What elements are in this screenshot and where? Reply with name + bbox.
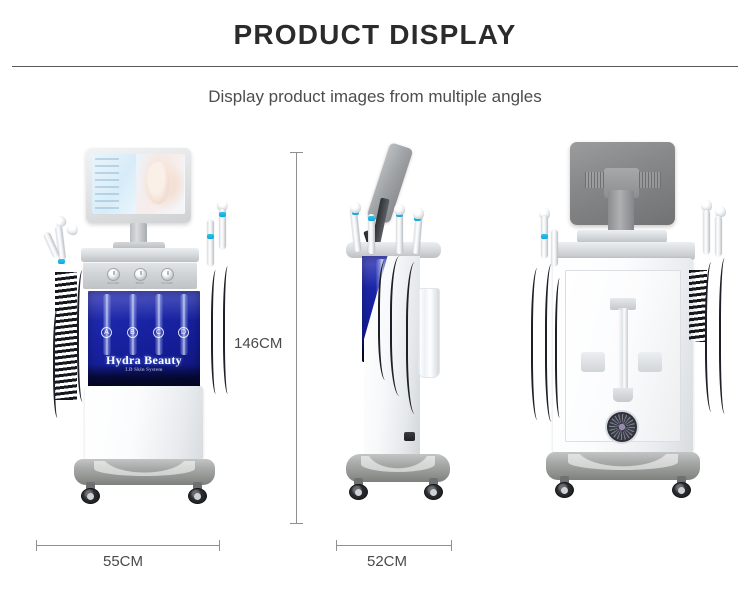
front-right-handpiece-cluster[interactable] [195,200,241,430]
dimension-cap-top [290,152,303,153]
knob-vacuum[interactable] [107,268,120,281]
dimension-cap-left [336,540,337,551]
back-wand-left-2[interactable] [551,230,558,266]
front-left-handpiece-cluster[interactable] [33,212,91,432]
tank-tube-c [155,294,163,355]
tank-label-b: B [127,327,138,338]
side-wand-head-4[interactable] [413,208,424,219]
back-center-tube [618,308,628,394]
front-width-dimension-label: 55CM [103,553,143,571]
page-title: PRODUCT DISPLAY [0,0,750,52]
side-hose-2 [406,262,428,414]
caster-back-left [555,476,574,498]
caster-hub [87,493,94,500]
back-filter-right [638,352,662,372]
tank-tube-d [180,294,188,355]
tank-label-c: C [153,327,164,338]
caster-side-right [424,478,443,500]
height-dimension-line [296,152,297,524]
dimension-cap-left [36,540,37,551]
knob-spray[interactable] [134,268,147,281]
front-cabinet-body [85,386,203,459]
caster-side-left [349,478,368,500]
tank-label-a: A [101,327,112,338]
back-hose-right-b [719,258,733,414]
product-front-view: VACUUM SPRAY OXYGEN A B C D Hydra Beauty… [25,130,240,530]
knob-label-oxygen: OXYGEN [156,282,178,285]
side-wand-head-1[interactable] [350,202,361,213]
caster-hub [355,489,362,496]
caster-hub [430,489,437,496]
handpiece-hose-left-a [77,270,91,402]
side-width-dimension-line [336,545,452,546]
front-monitor-screen [92,154,185,214]
knob-oxygen[interactable] [161,268,174,281]
back-filter-left [581,352,605,372]
side-width-dimension-label: 52CM [367,553,407,571]
tank-label-d: D [178,327,189,338]
back-right-handpiece-cluster[interactable] [685,200,737,436]
tank-tube-a [103,294,111,355]
back-wand-right-2[interactable] [715,216,722,256]
back-left-handpiece-cluster[interactable] [519,208,567,438]
height-dimension-label: 146CM [234,335,282,353]
side-hose-3 [378,260,396,380]
handpiece-wand-right-2[interactable] [207,220,214,266]
caster-hub [561,487,568,494]
title-divider [12,66,738,67]
side-rear-port[interactable] [404,432,415,441]
side-wand-head-3[interactable] [394,204,405,215]
tank-tube-b [129,294,137,355]
product-side-view [318,130,478,530]
back-wand-tip-left-1 [541,234,548,239]
front-tank-panel: A B C D Hydra Beauty LD Skin System [88,291,200,389]
dimension-cap-bottom [290,523,303,524]
product-back-view [515,130,740,530]
back-monitor-vent-right [639,172,661,188]
knob-label-vacuum: VACUUM [102,282,124,285]
caster-back-right [672,476,691,498]
back-wand-right-1[interactable] [703,210,710,254]
caster-front-left-inner [81,482,100,504]
handpiece-tip-right-2 [207,234,214,239]
page-subtitle: Display product images from multiple ang… [0,85,750,109]
caster-hub [678,487,685,494]
dimension-cap-right [451,540,452,551]
handpiece-tip-left-1 [58,259,65,264]
screen-model-photo [136,154,184,214]
product-image-stage: VACUUM SPRAY OXYGEN A B C D Hydra Beauty… [0,130,750,592]
page-header: PRODUCT DISPLAY [0,0,750,52]
handpiece-head-left-2[interactable] [66,223,80,237]
dimension-cap-right [219,540,220,551]
back-fan-grille [609,414,635,440]
handpiece-hose-right-b [223,266,235,394]
side-monitor [367,142,414,224]
handpiece-tip-right-1 [219,212,226,217]
back-y-connector [613,388,633,402]
caster-hub [194,493,201,500]
side-wand-tip-2 [368,216,375,221]
front-top-shelf [81,248,199,262]
handpiece-hose-left-b [53,308,64,418]
caster-front-right-inner [188,482,207,504]
knob-label-spray: SPRAY [129,282,151,285]
front-width-dimension-line [36,545,220,546]
screen-menu-strip [95,158,119,210]
handpiece-hose-right-a [211,270,223,394]
back-hose-left-c [555,278,567,418]
